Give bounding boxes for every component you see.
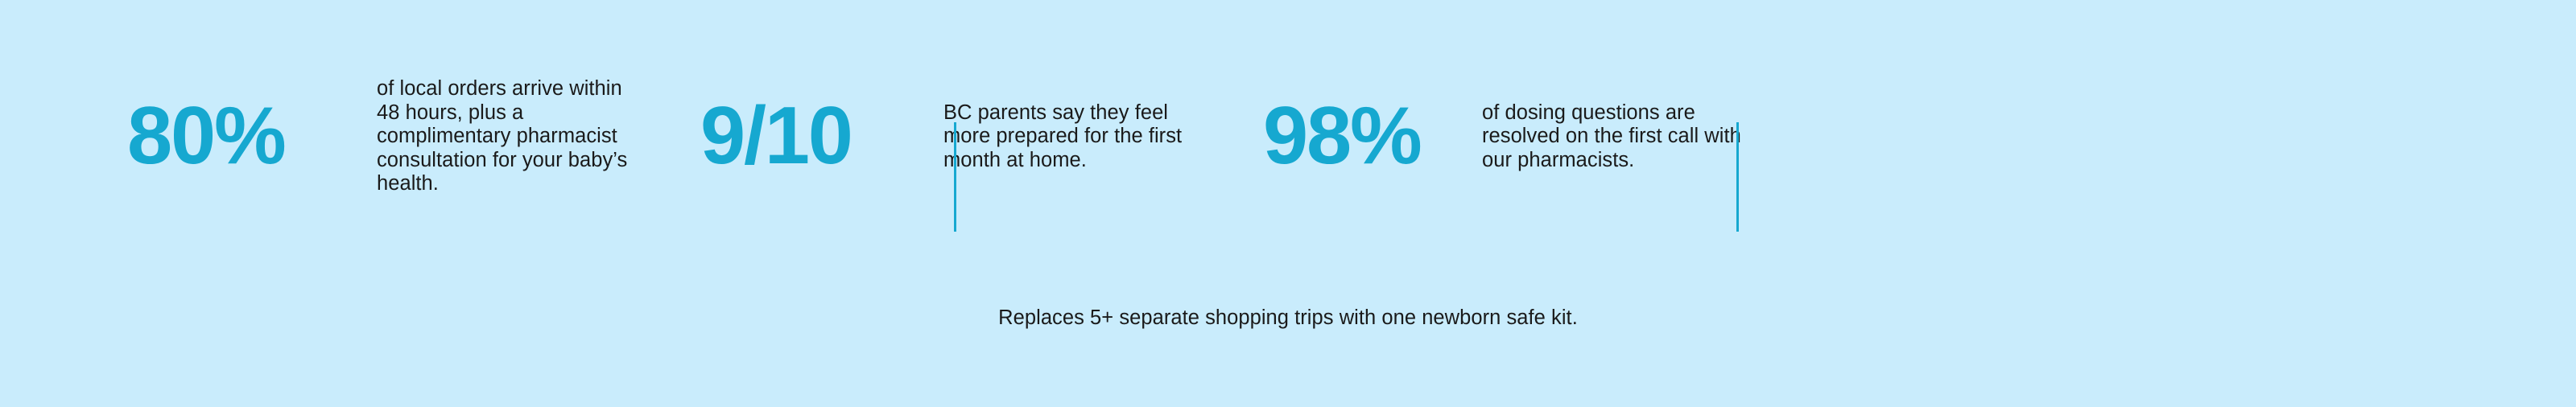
stat-divider [1736, 122, 1739, 232]
stats-row: 80% of local orders arrive within 48 hou… [0, 0, 2576, 273]
stat-block: 98% of dosing questions are resolved on … [1263, 95, 1748, 178]
banner-caption: Replaces 5+ separate shopping trips with… [0, 306, 2576, 331]
stat-divider [954, 122, 956, 232]
stat-figure: 80% [127, 95, 377, 178]
stats-banner: 80% of local orders arrive within 48 hou… [0, 0, 2576, 407]
stat-figure: 9/10 [700, 95, 943, 178]
stat-description: BC parents say they feel more prepared f… [943, 101, 1185, 173]
stat-block: 80% of local orders arrive within 48 hou… [127, 77, 642, 196]
stat-description: of local orders arrive within 48 hours, … [377, 77, 642, 196]
stat-block: 9/10 BC parents say they feel more prepa… [700, 95, 1185, 178]
stat-figure: 98% [1263, 95, 1482, 178]
stat-description: of dosing questions are resolved on the … [1482, 101, 1748, 173]
